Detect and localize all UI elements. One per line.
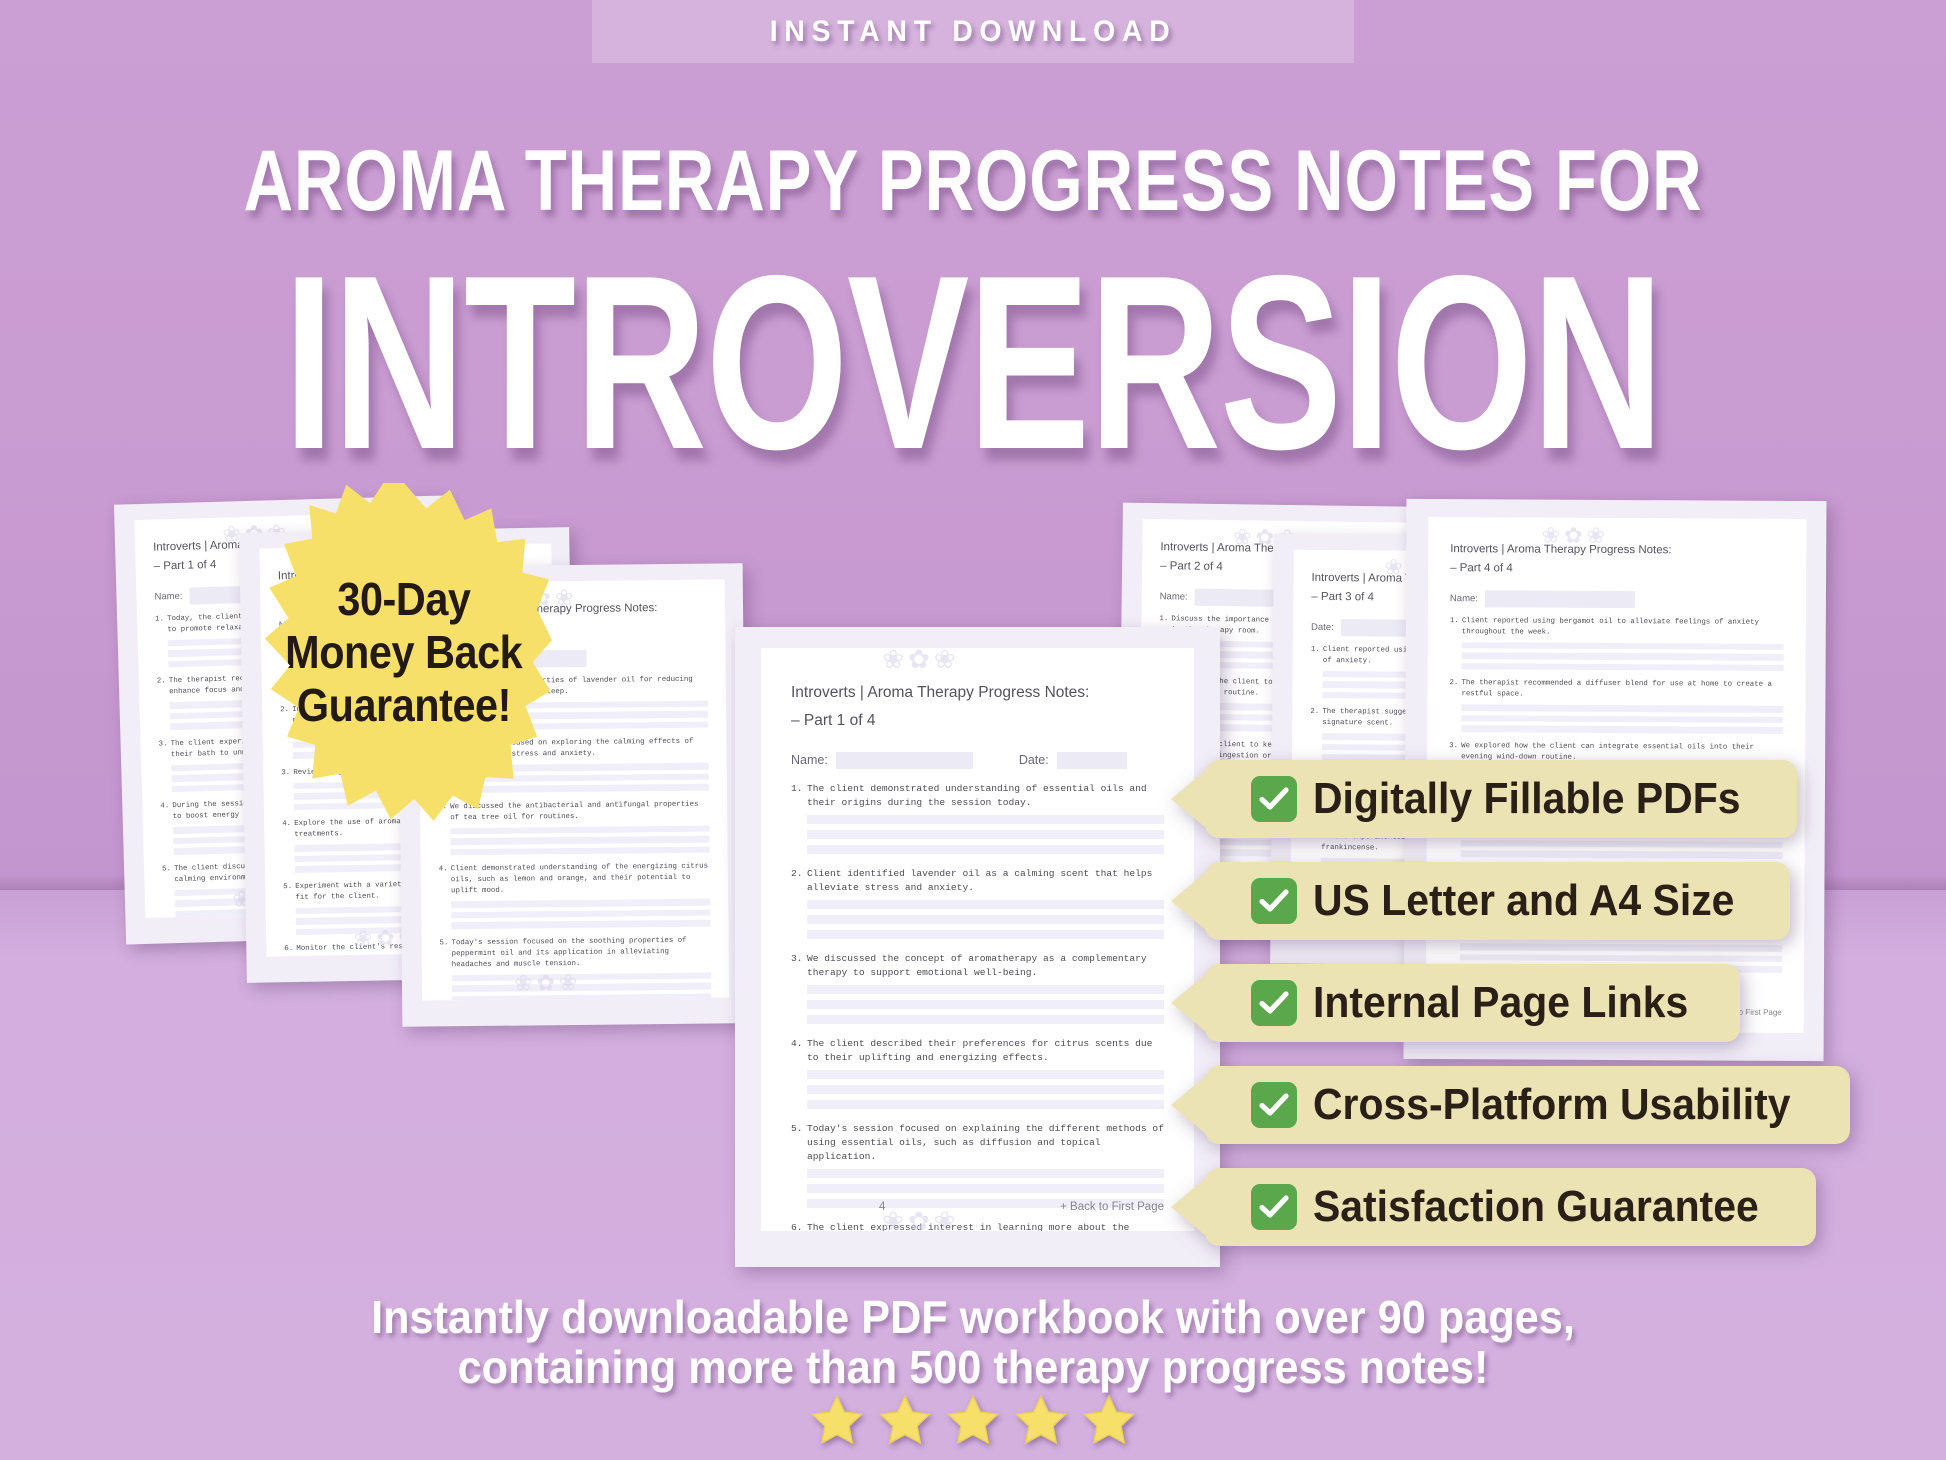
date-label: Date: [1311,622,1334,633]
doc-item-text: Client demonstrated understanding of the… [451,862,710,898]
doc-item-text: We discussed the antibacterial and antif… [450,799,709,824]
check-icon [1251,980,1297,1026]
doc-write-lines[interactable] [807,815,1164,854]
check-icon [1251,878,1297,924]
check-icon [1251,1082,1297,1128]
feature-banner-digitally-fillable-pdfs: Digitally Fillable PDFs [1205,760,1797,838]
doc-item-text: Today's session focused on the soothing … [451,935,710,971]
doc-item-text: Today's session focused on explaining th… [807,1122,1164,1164]
doc-write-line[interactable] [1462,642,1784,650]
doc-item-number: 5. [283,882,295,893]
star-icon [944,1392,1002,1453]
doc-write-line[interactable] [451,909,710,918]
doc-item-number: 4. [160,801,172,812]
document-preview-front: ❀✿❀ Introverts | Aroma Therapy Progress … [735,627,1220,1267]
badge-line-2: Money Back [285,626,522,679]
doc-write-line[interactable] [1461,840,1783,848]
caption-line-2: containing more than 500 therapy progres… [58,1342,1887,1392]
back-to-first-page-link[interactable]: + Back to First Page [1060,1201,1164,1213]
doc-write-line[interactable] [807,845,1164,854]
doc-item-number: 4. [791,1037,807,1051]
doc-write-line[interactable] [452,993,711,1000]
doc-write-line[interactable] [807,815,1164,824]
instant-download-ribbon: INSTANT DOWNLOAD [592,0,1354,63]
doc-write-line[interactable] [450,836,709,845]
doc-item-text: The client demonstrated understanding of… [807,782,1164,810]
doc-item-list: 1.The client demonstrated understanding … [791,782,1164,1231]
doc-write-lines[interactable] [452,972,711,1000]
doc-write-line[interactable] [1461,725,1783,733]
doc-item-text: The client described their preferences f… [807,1037,1164,1065]
doc-item-text: We discussed the concept of aromatherapy… [807,952,1164,980]
doc-write-line[interactable] [807,1169,1164,1178]
doc-item-number: 1. [1311,645,1323,656]
headline-primary: AROMA THERAPY PROGRESS NOTES FOR [195,135,1752,227]
doc-item-number: 2. [1310,707,1322,718]
doc-write-line[interactable] [1461,715,1783,723]
headline-topic: INTROVERSION [253,222,1693,502]
star-icon [1012,1392,1070,1453]
product-listing-image: INSTANT DOWNLOAD AROMA THERAPY PROGRESS … [0,0,1946,1460]
feature-banner-us-letter-and-a4-size: US Letter and A4 Size [1205,862,1790,940]
doc-write-line[interactable] [807,915,1164,924]
doc-item: 2.The therapist recommended a diffuser b… [1449,678,1783,702]
doc-write-line[interactable] [1460,954,1782,962]
doc-subtitle: – Part 1 of 4 [791,712,1164,730]
doc-title: Introverts | Aroma Therapy Progress Note… [1450,543,1784,557]
doc-item: 5.Today's session focused on the soothin… [439,935,710,971]
doc-item-text: The client expressed interest in learnin… [807,1221,1164,1231]
doc-write-line[interactable] [807,1015,1164,1024]
doc-write-line[interactable] [450,784,709,793]
doc-write-line[interactable] [807,985,1164,994]
doc-item-number: 3. [158,739,170,750]
name-input[interactable] [836,752,973,769]
doc-item-number: 5. [439,938,451,949]
doc-item: 4.Client demonstrated understanding of t… [439,862,710,898]
doc-item-number: 1. [1450,616,1462,627]
feature-banner-satisfaction-guarantee: Satisfaction Guarantee [1205,1168,1816,1246]
star-rating [0,1392,1946,1453]
doc-item: 2.Client identified lavender oil as a ca… [791,867,1164,895]
name-label: Name: [791,753,828,767]
feature-banner-internal-page-links: Internal Page Links [1205,964,1740,1042]
doc-item-number: 5. [791,1122,807,1136]
star-icon [808,1392,866,1453]
doc-item-text: The therapist recommended a diffuser ble… [1461,678,1783,702]
doc-write-lines[interactable] [451,899,710,929]
doc-item-number: 3. [791,952,807,966]
name-input[interactable] [1485,590,1635,608]
doc-item-number: 2. [1449,678,1461,689]
bottom-caption: Instantly downloadable PDF workbook with… [58,1292,1887,1392]
doc-write-line[interactable] [807,830,1164,839]
doc-item-number: 6. [284,944,296,955]
doc-write-line[interactable] [451,899,710,908]
name-label: Name: [1450,593,1478,604]
doc-write-line[interactable] [452,983,711,992]
name-label: Name: [1160,591,1188,602]
doc-item: 1.The client demonstrated understanding … [791,782,1164,810]
feature-banner-cross-platform-usability: Cross-Platform Usability [1205,1066,1850,1144]
doc-write-line[interactable] [1462,663,1784,671]
feature-label: Cross-Platform Usability [1313,1081,1813,1129]
doc-write-lines[interactable] [1462,642,1784,671]
doc-item: 3.We discussed the concept of aromathera… [791,952,1164,980]
doc-item-number: 2. [157,677,169,688]
doc-item-number: 4. [282,819,294,830]
doc-write-line[interactable] [807,900,1164,909]
doc-write-line[interactable] [807,1000,1164,1009]
doc-item-text: Client identified lavender oil as a calm… [807,867,1164,895]
doc-item-number: 2. [280,705,292,716]
doc-write-lines[interactable] [807,985,1164,1024]
doc-write-line[interactable] [1461,850,1783,858]
feature-label: Internal Page Links [1313,979,1711,1027]
doc-write-line[interactable] [807,1085,1164,1094]
feature-label: US Letter and A4 Size [1313,877,1757,925]
doc-item: 1.Client reported using bergamot oil to … [1450,616,1784,640]
instant-download-label: INSTANT DOWNLOAD [770,15,1177,49]
badge-line-3: Guarantee! [297,679,511,732]
doc-write-lines[interactable] [807,900,1164,939]
doc-write-line[interactable] [807,930,1164,939]
name-label: Name: [154,591,182,603]
doc-item: 6.The client expressed interest in learn… [791,1221,1164,1231]
doc-item-number: 2. [791,867,807,881]
doc-write-lines[interactable] [1461,704,1783,733]
doc-item: 4.The client described their preferences… [791,1037,1164,1065]
feature-label: Satisfaction Guarantee [1313,1183,1781,1231]
doc-item: 5.Today's session focused on explaining … [791,1122,1164,1164]
page-number: 4 [879,1201,885,1213]
doc-write-line[interactable] [1460,943,1782,951]
check-icon [1251,1184,1297,1230]
doc-item-number: 5. [162,864,174,875]
doc-item-number: 1. [1159,614,1171,625]
date-label: Date: [1019,753,1049,767]
doc-item-number: 3. [1449,741,1461,752]
doc-item-number: 1. [791,782,807,796]
doc-item-number: 4. [439,865,451,876]
doc-write-line[interactable] [807,1100,1164,1109]
doc-item-number: 1. [155,614,167,625]
doc-write-line[interactable] [807,1184,1164,1193]
doc-write-lines[interactable] [450,825,709,855]
doc-write-line[interactable] [807,1070,1164,1079]
doc-write-line[interactable] [451,846,710,855]
star-icon [876,1392,934,1453]
doc-write-line[interactable] [1462,652,1784,660]
badge-line-1: 30-Day [337,573,470,626]
doc-item-number: 6. [791,1221,807,1231]
doc-write-line[interactable] [450,825,709,834]
doc-item-number: 3. [281,768,293,779]
date-input[interactable] [1057,752,1127,769]
caption-line-1: Instantly downloadable PDF workbook with… [58,1292,1887,1342]
doc-write-line[interactable] [1461,704,1783,712]
feature-label: Digitally Fillable PDFs [1313,775,1763,823]
doc-title: Introverts | Aroma Therapy Progress Note… [791,684,1164,702]
doc-write-line[interactable] [451,920,710,929]
doc-item-text: Client reported using bergamot oil to al… [1462,616,1784,640]
doc-subtitle: – Part 4 of 4 [1450,562,1784,576]
check-icon [1251,776,1297,822]
star-icon [1080,1392,1138,1453]
doc-write-lines[interactable] [807,1070,1164,1109]
doc-write-line[interactable] [452,972,711,981]
